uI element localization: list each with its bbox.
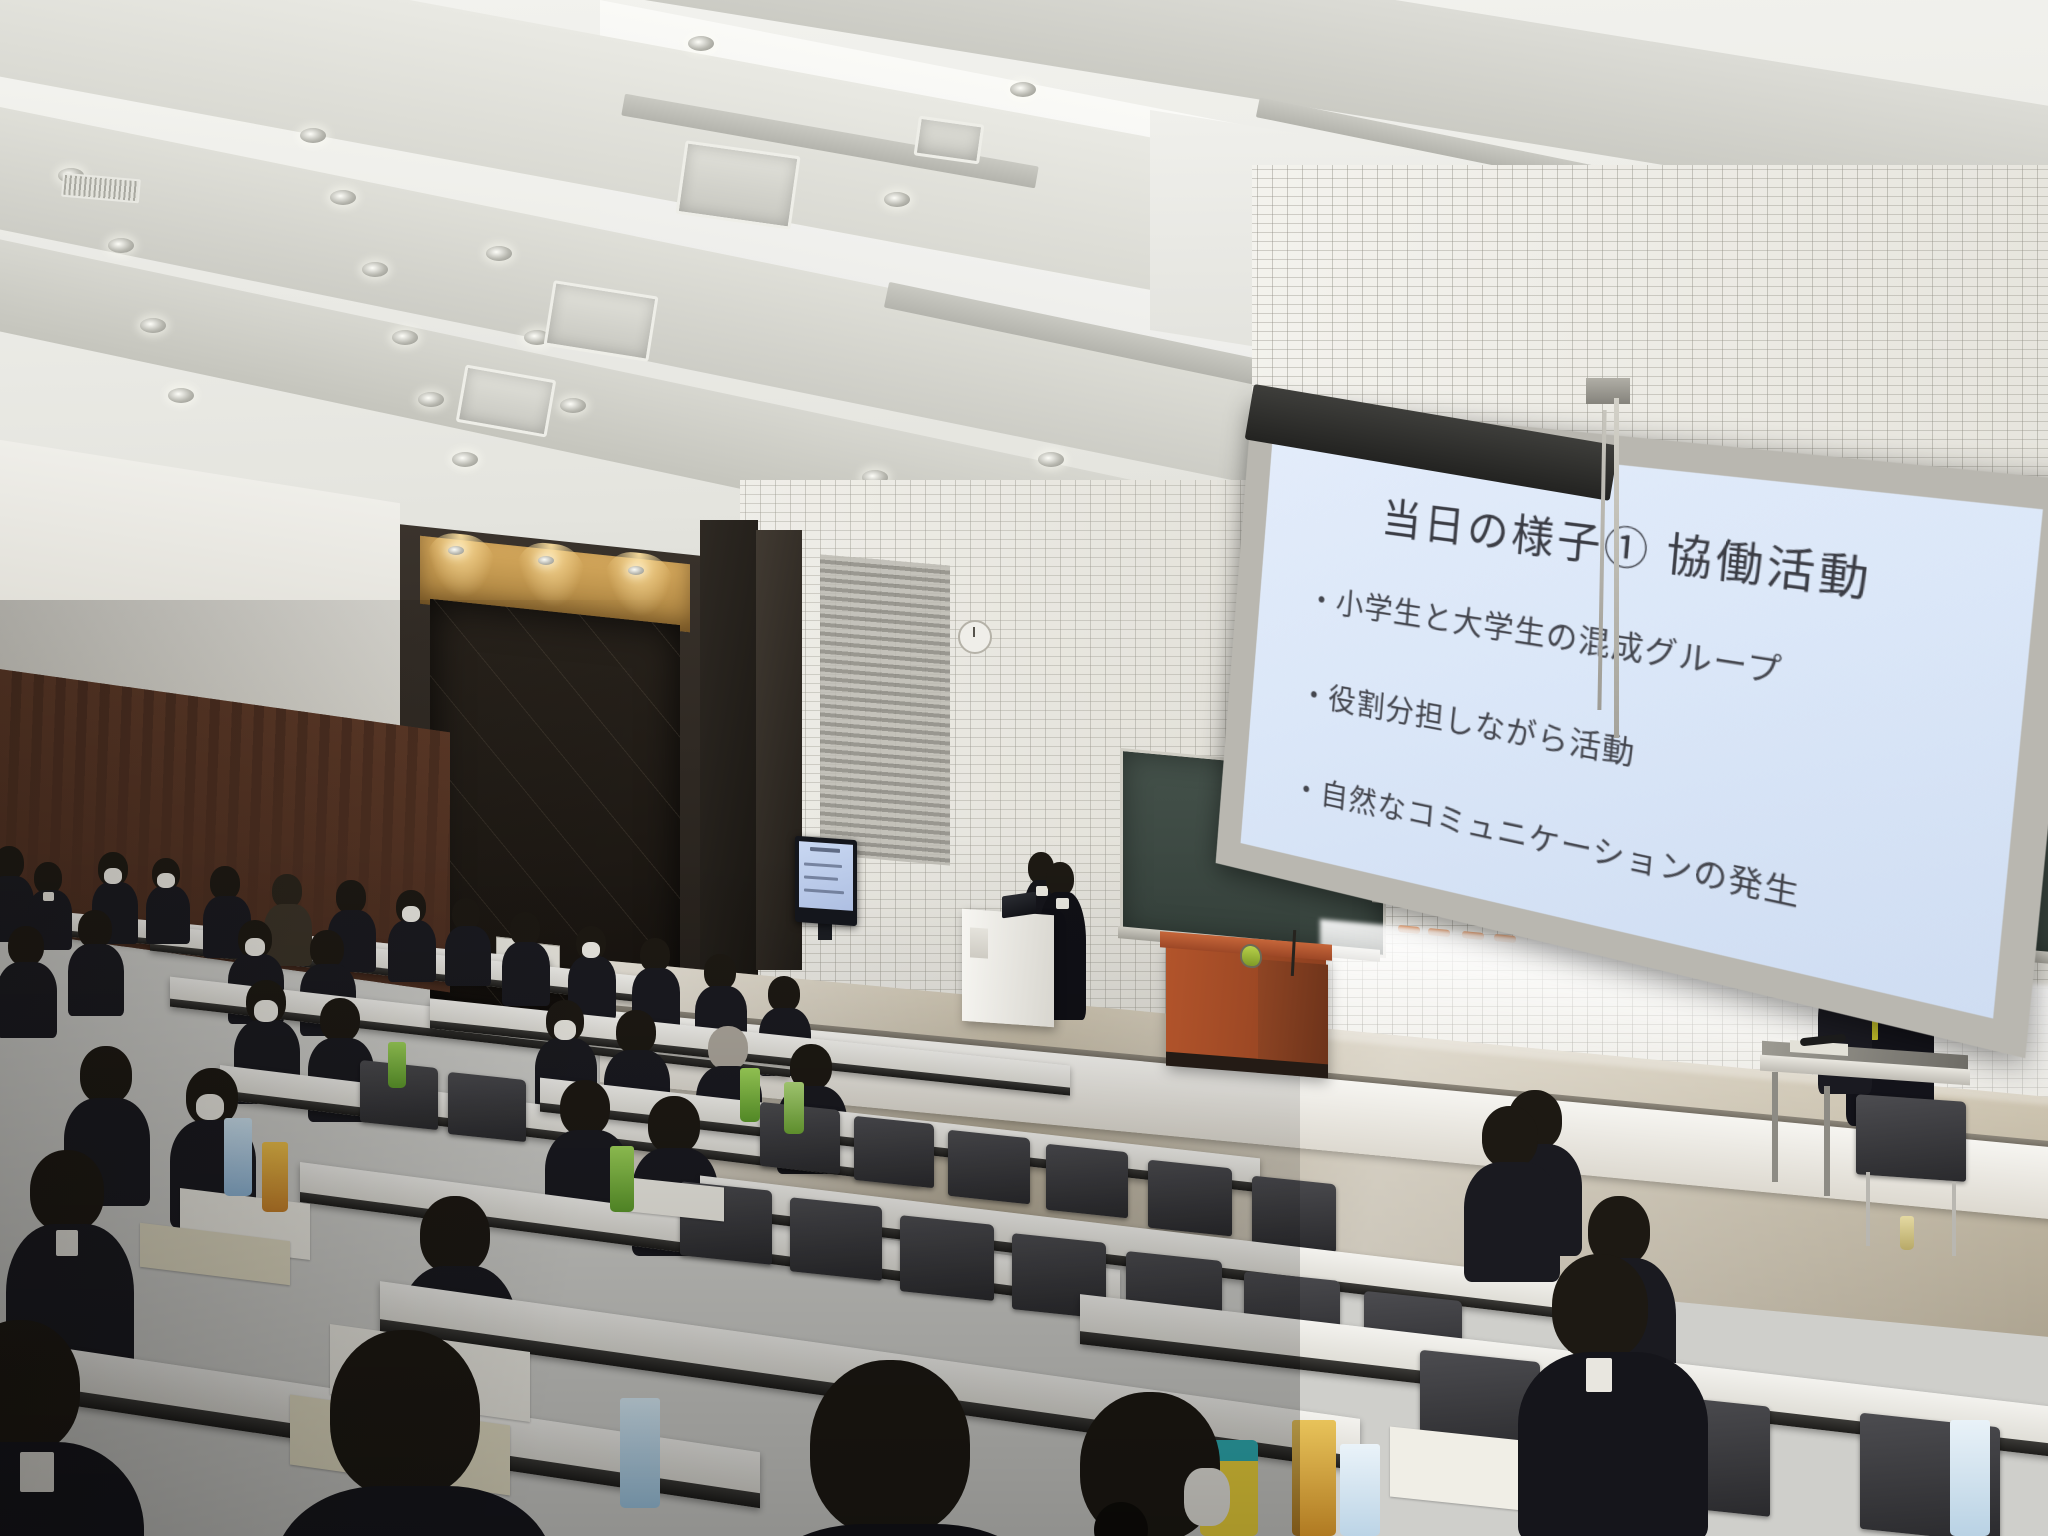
- audience-chair[interactable]: [1046, 1144, 1128, 1219]
- water-bottle: [610, 1146, 634, 1212]
- lecture-hall-photo: 当日の様子① 協働活動 小学生と大学生の混成グループ 役割分担しながら活動 自然…: [0, 0, 2048, 1536]
- chair-leg: [1866, 1172, 1870, 1246]
- accent-uplight-icon: [448, 546, 464, 555]
- confidence-monitor: [795, 836, 857, 926]
- downlight-icon: [330, 190, 356, 205]
- water-bottle: [740, 1068, 760, 1122]
- water-bottle: [1340, 1444, 1380, 1536]
- downlight-icon: [108, 238, 134, 253]
- accent-uplight-icon: [628, 566, 644, 575]
- wall-column-dark: [700, 520, 758, 990]
- projection-screen-border: 当日の様子① 協働活動 小学生と大学生の混成グループ 役割分担しながら活動 自然…: [1216, 400, 2048, 1058]
- downlight-icon: [560, 398, 586, 413]
- screen-mount-bracket: [1586, 378, 1630, 404]
- downlight-icon: [452, 452, 478, 467]
- water-bottle: [1900, 1216, 1914, 1250]
- water-bottle: [784, 1082, 804, 1134]
- projected-slide: 当日の様子① 協働活動 小学生と大学生の混成グループ 役割分担しながら活動 自然…: [1241, 428, 2043, 1018]
- side-desk-leg: [1824, 1086, 1830, 1196]
- slide-bullet-list: 小学生と大学生の混成グループ 役割分担しながら活動 自然なコミュニケーションの発…: [1287, 575, 1999, 1017]
- wall-clock-icon: [958, 620, 992, 654]
- confidence-monitor-screen: [799, 841, 853, 911]
- water-bottle: [1950, 1420, 1990, 1536]
- water-bottle: [224, 1118, 252, 1196]
- tea-bottle: [1292, 1420, 1336, 1536]
- water-bottle: [620, 1398, 660, 1508]
- downlight-icon: [884, 192, 910, 207]
- audience-chair[interactable]: [1148, 1160, 1232, 1237]
- downlight-icon: [486, 246, 512, 261]
- audience-chair[interactable]: [448, 1072, 526, 1142]
- accent-uplight-icon: [538, 556, 554, 565]
- white-podium: [962, 909, 1054, 1027]
- downlight-icon: [362, 262, 388, 277]
- chair-leg: [1952, 1182, 1956, 1256]
- wall-slat-panel: [820, 554, 950, 865]
- audience-chair[interactable]: [900, 1215, 994, 1301]
- audience-chair[interactable]: [790, 1197, 882, 1281]
- downlight-icon: [418, 392, 444, 407]
- audience-chair[interactable]: [948, 1130, 1030, 1205]
- downlight-icon: [1038, 452, 1064, 467]
- water-bottle: [262, 1142, 288, 1212]
- ac-ceiling-unit: [675, 140, 800, 229]
- water-bottle: [388, 1042, 406, 1088]
- monitor-stand: [818, 922, 832, 940]
- downlight-icon: [168, 388, 194, 403]
- side-desk-leg: [1772, 1072, 1778, 1182]
- screen-support-cable: [1614, 398, 1619, 738]
- downlight-icon: [140, 318, 166, 333]
- downlight-icon: [1010, 82, 1036, 97]
- downlight-icon: [392, 330, 418, 345]
- audience-chair[interactable]: [1252, 1176, 1336, 1253]
- downlight-icon: [688, 36, 714, 51]
- audience-chair[interactable]: [854, 1116, 934, 1188]
- downlight-icon: [300, 128, 326, 143]
